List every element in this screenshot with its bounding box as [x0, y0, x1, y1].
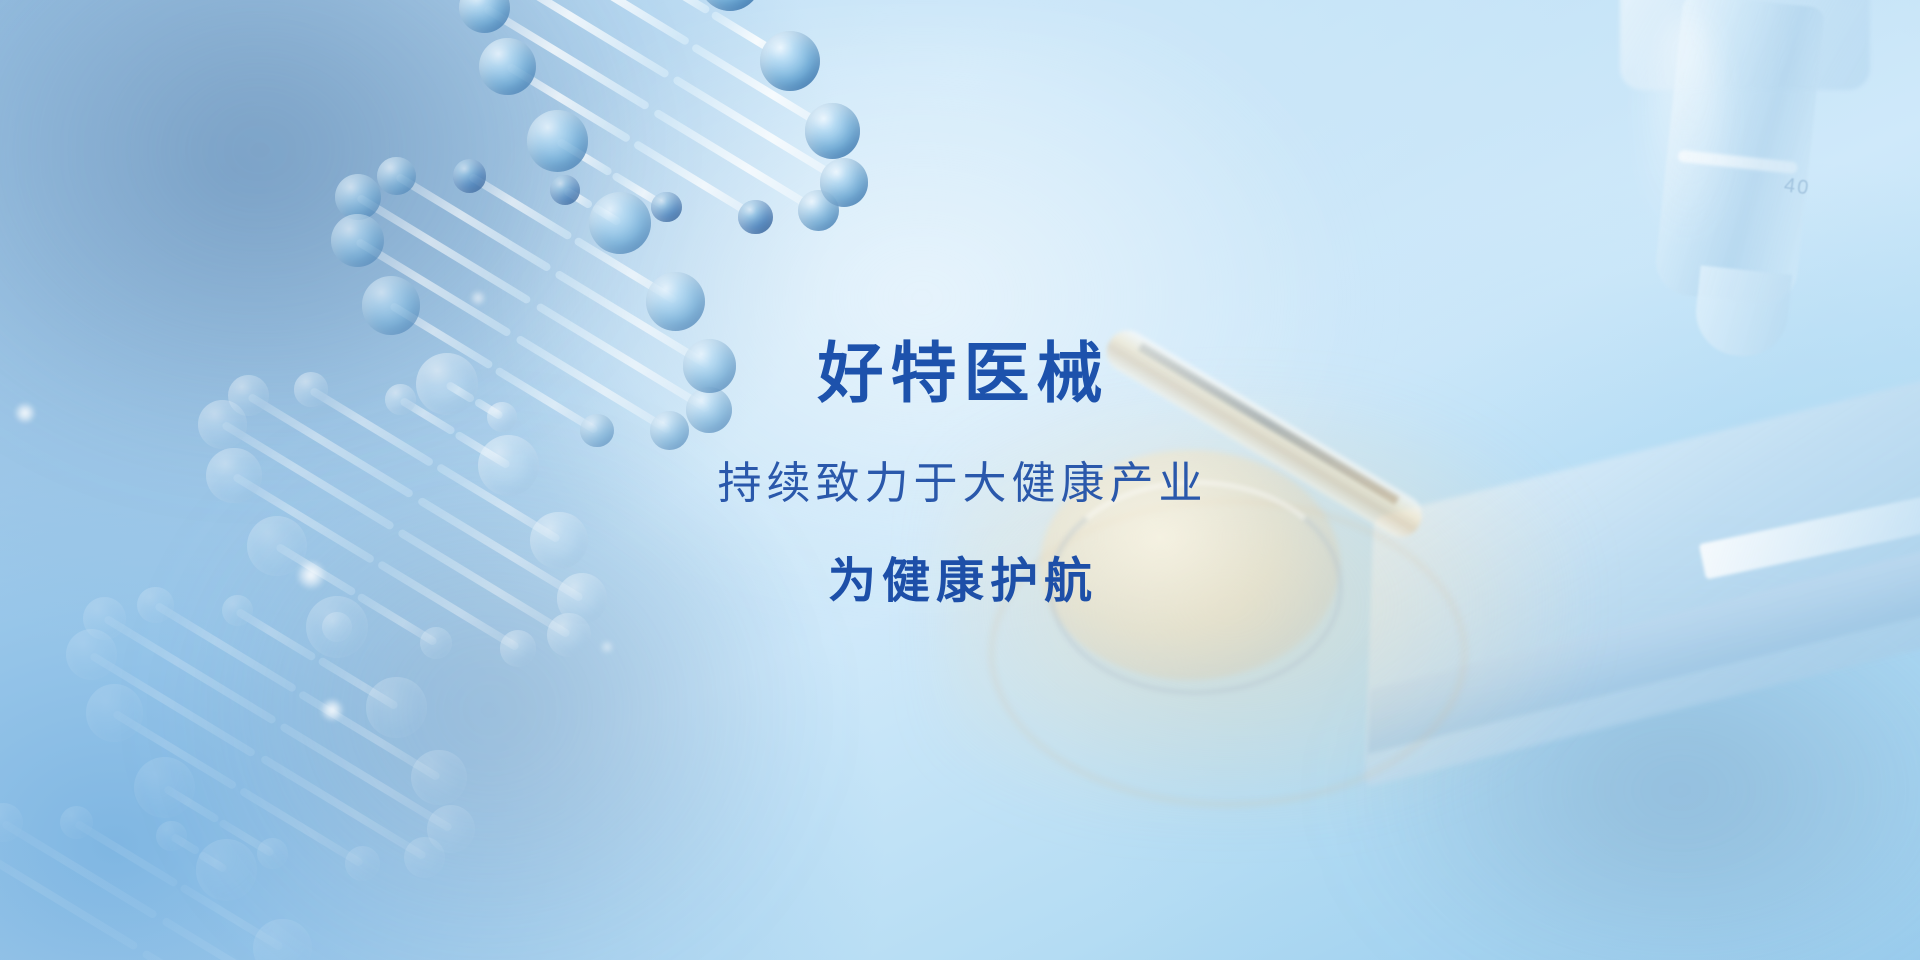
light-speck — [470, 290, 486, 306]
dna-double-helix-icon — [0, 0, 750, 960]
microscope-lens-tip — [1692, 265, 1792, 360]
microscope-magnification-label: 40 — [1783, 174, 1812, 200]
light-speck — [600, 640, 614, 654]
hero-banner: 40 好特医械 持续致力于大健康产业 为健康护航 — [0, 0, 1920, 960]
petri-dish-rim — [1048, 480, 1343, 695]
microscope-highlight — [1650, 14, 1720, 244]
light-speck — [14, 402, 36, 424]
glassware-group — [1020, 330, 1540, 760]
